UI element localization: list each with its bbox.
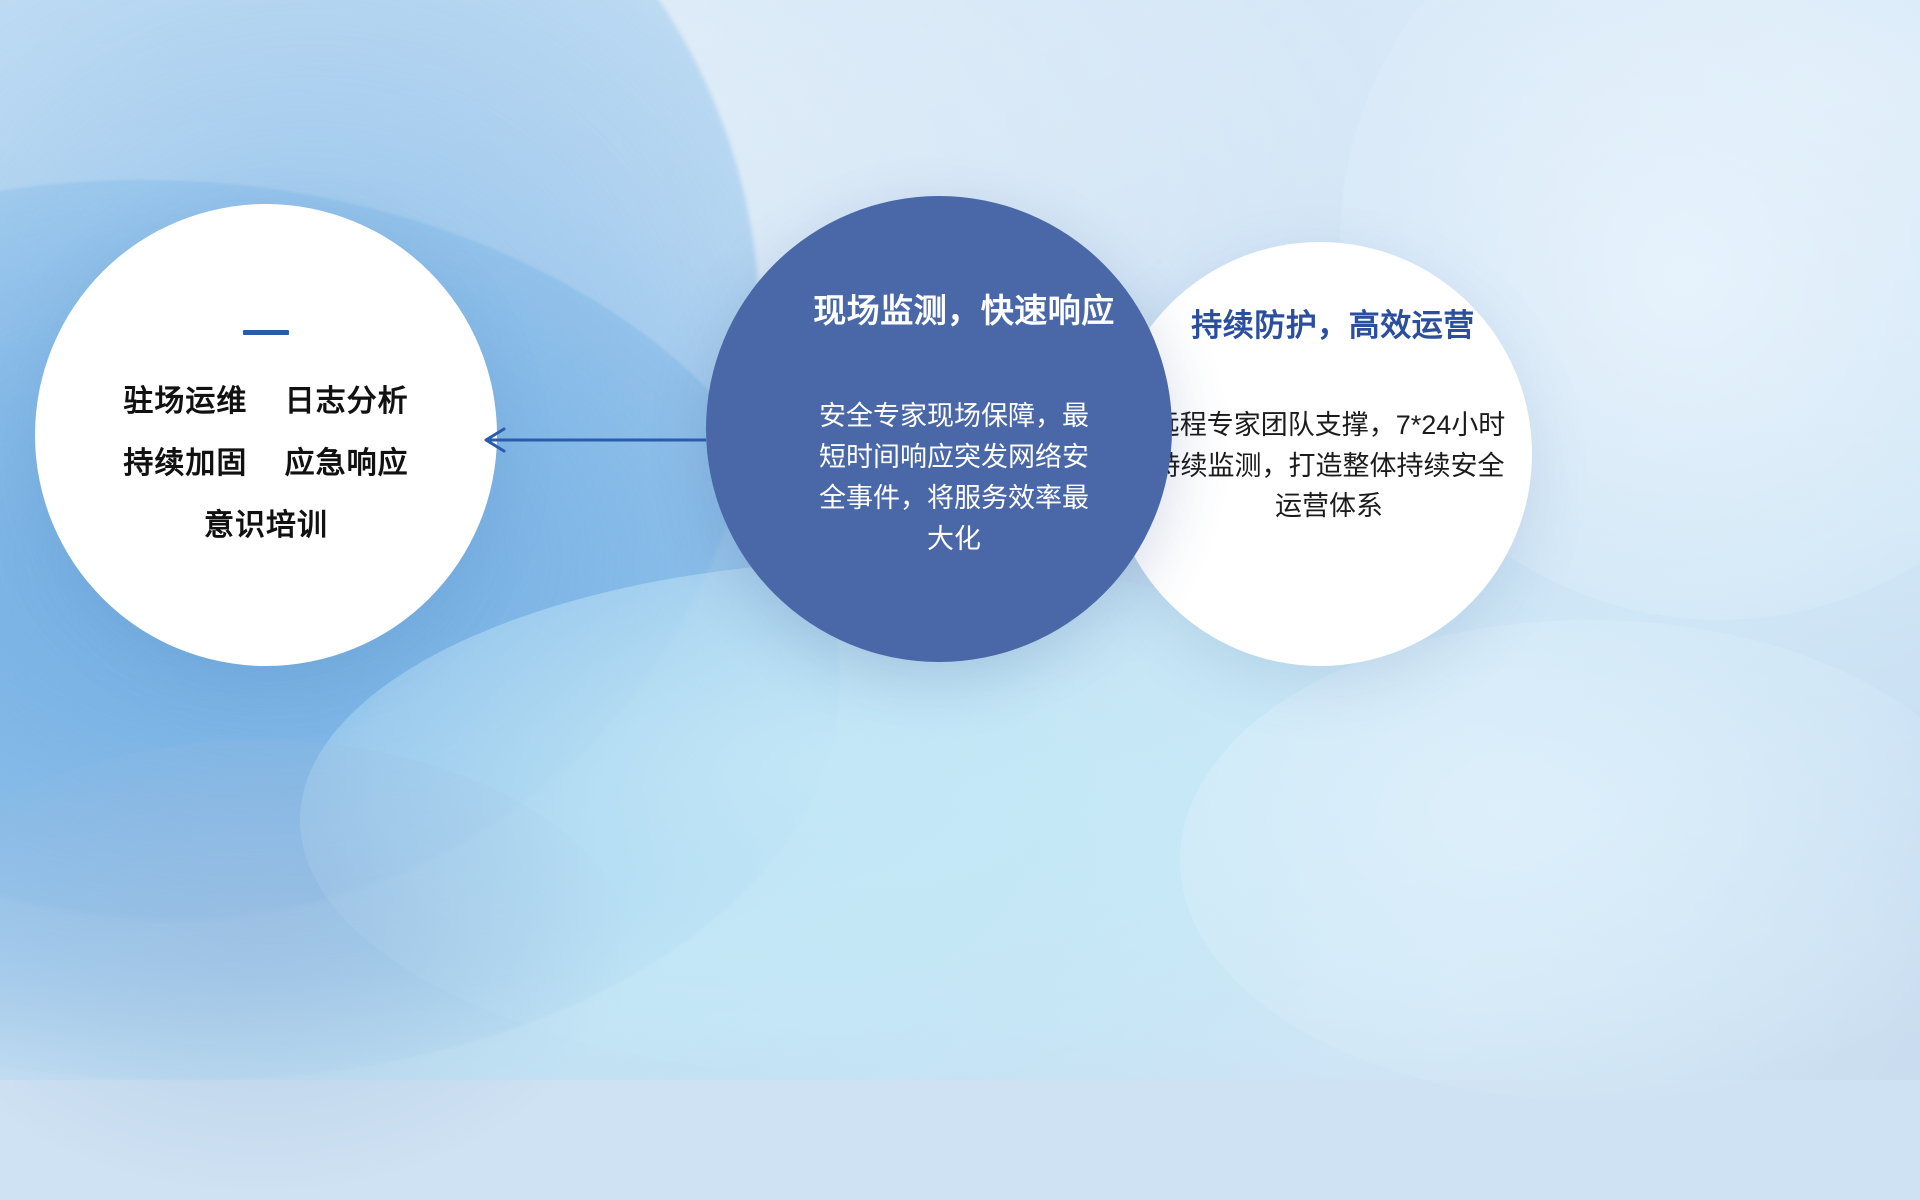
capability-line-1: 驻场运维 日志分析: [123, 387, 408, 417]
left-arrow-icon: [470, 420, 710, 460]
onsite-monitoring-title: 现场监测，快速响应: [813, 284, 1115, 332]
divider-dash: [243, 330, 289, 335]
onsite-monitoring-body: 安全专家现场保障，最短时间响应突发网络安全事件，将服务效率最大化: [809, 396, 1099, 560]
continuous-protection-title: 持续防护，高效运营: [1191, 300, 1475, 345]
continuous-protection-circle: 持续防护，高效运营 远程专家团队支撑，7*24小时持续监测，打造整体持续安全运营…: [1108, 242, 1532, 666]
onsite-monitoring-circle: 现场监测，快速响应 安全专家现场保障，最短时间响应突发网络安全事件，将服务效率最…: [706, 196, 1172, 662]
capabilities-circle: 驻场运维 日志分析 持续加固 应急响应 意识培训: [35, 204, 497, 666]
continuous-protection-body: 远程专家团队支撑，7*24小时持续监测，打造整体持续安全运营体系: [1145, 405, 1513, 527]
capability-line-2: 持续加固 应急响应: [123, 449, 408, 479]
capability-line-3: 意识培训: [204, 511, 328, 541]
